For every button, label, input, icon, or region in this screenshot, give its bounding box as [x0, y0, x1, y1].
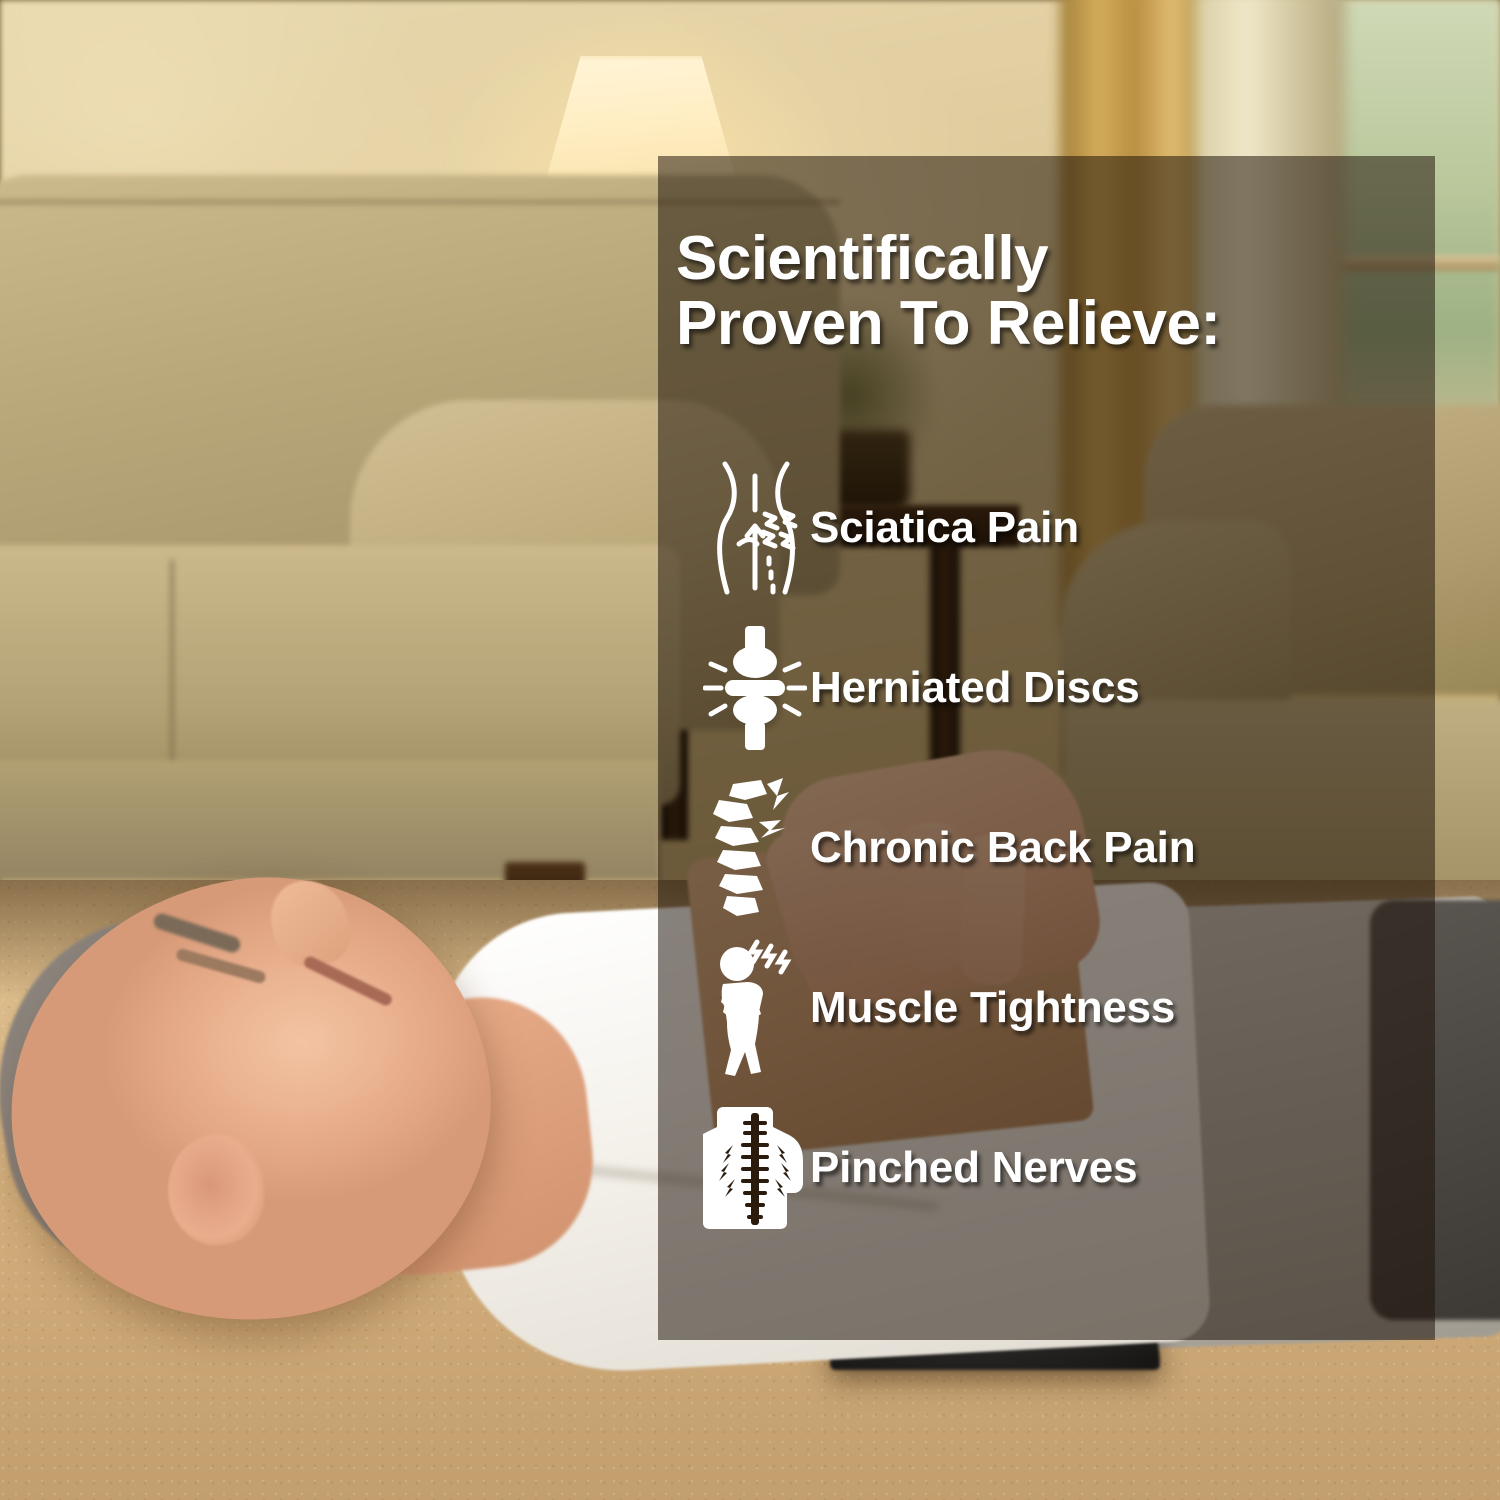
sofa-cushion-seam — [170, 560, 174, 790]
benefit-item-pinched-nerves: Pinched Nerves — [700, 1088, 1440, 1248]
benefit-label: Herniated Discs — [810, 663, 1140, 713]
benefit-label: Chronic Back Pain — [810, 823, 1195, 873]
benefit-item-herniated-discs: Herniated Discs — [700, 608, 1440, 768]
benefit-list: Sciatica Pain — [700, 448, 1440, 1248]
benefit-label: Sciatica Pain — [810, 503, 1079, 553]
promo-image: Scientifically Proven To Relieve: — [0, 0, 1500, 1500]
person-shoulder-pain-icon — [700, 938, 810, 1078]
benefit-label: Pinched Nerves — [810, 1143, 1137, 1193]
benefit-item-chronic-back-pain: Chronic Back Pain — [700, 768, 1440, 928]
back-anatomy-icon — [700, 1098, 810, 1238]
vertebrae-stack-icon — [700, 778, 810, 918]
sciatica-nerve-icon — [700, 458, 810, 598]
spinal-disc-icon — [700, 618, 810, 758]
benefit-item-sciatica-pain: Sciatica Pain — [700, 448, 1440, 608]
page-title: Scientifically Proven To Relieve: — [676, 226, 1436, 356]
benefit-label: Muscle Tightness — [810, 983, 1175, 1033]
benefit-item-muscle-tightness: Muscle Tightness — [700, 928, 1440, 1088]
